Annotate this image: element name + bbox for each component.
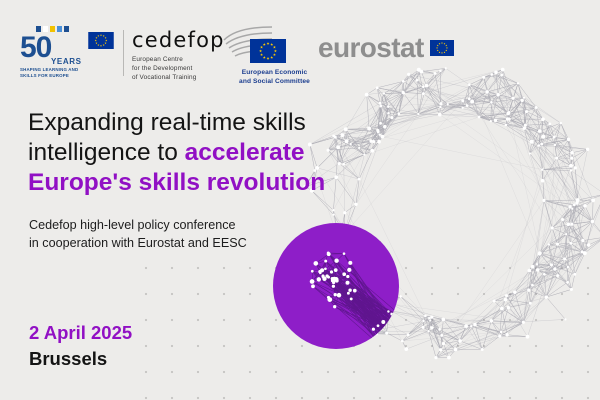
cedefop-wordmark: cedefop [132, 30, 225, 50]
eu-flag-icon [250, 39, 286, 63]
cedefop-subtitle-line1: European Centre [132, 55, 225, 64]
event-date: 2 April 2025 [29, 322, 132, 344]
headline-line3-highlight: Europe's skills revolution [28, 169, 325, 196]
event-subtitle-line2: in cooperation with Eurostat and EESC [29, 234, 329, 252]
eurostat-wordmark: eurostat [318, 34, 424, 62]
event-subtitle-line1: Cedefop high-level policy conference [29, 216, 329, 234]
eu-flag-icon [430, 40, 454, 56]
event-subtitle: Cedefop high-level policy conference in … [29, 216, 329, 252]
logo-bar: 50 YEARS SHAPING LEARNING AND SKILLS FOR… [0, 0, 600, 96]
eesc-name-line1: European Economic [222, 68, 327, 77]
fifty-number: 50 [20, 33, 51, 63]
headline-line2-plain: intelligence to [28, 139, 185, 166]
eesc-logo: European Economic and Social Committee [222, 24, 327, 86]
headline-line1: Expanding real-time skills [28, 109, 306, 136]
cedefop-subtitle-line2: for the Development [132, 64, 225, 73]
banner-canvas: 50 YEARS SHAPING LEARNING AND SKILLS FOR… [0, 0, 600, 400]
eu-flag-icon [88, 32, 114, 49]
cedefop-50-years-logo: 50 YEARS SHAPING LEARNING AND SKILLS FOR… [20, 26, 82, 82]
cedefop50-tagline-line2: SKILLS FOR EUROPE [20, 73, 86, 79]
cedefop-logo: cedefop European Centre for the Developm… [88, 30, 225, 80]
headline-line2-highlight: accelerate [185, 139, 305, 166]
cedefop50-tagline: SHAPING LEARNING AND SKILLS FOR EUROPE [20, 67, 86, 79]
cedefop-subtitle: European Centre for the Development of V… [132, 55, 225, 83]
logo-divider [123, 30, 124, 76]
years-label: YEARS [51, 57, 82, 66]
event-city: Brussels [29, 348, 107, 370]
cedefop-subtitle-line3: of Vocational Training [132, 73, 225, 82]
eesc-name: European Economic and Social Committee [222, 68, 327, 86]
page-title: Expanding real-time skills intelligence … [28, 108, 378, 198]
eurostat-logo: eurostat [318, 34, 454, 62]
eesc-name-line2: and Social Committee [222, 77, 327, 86]
